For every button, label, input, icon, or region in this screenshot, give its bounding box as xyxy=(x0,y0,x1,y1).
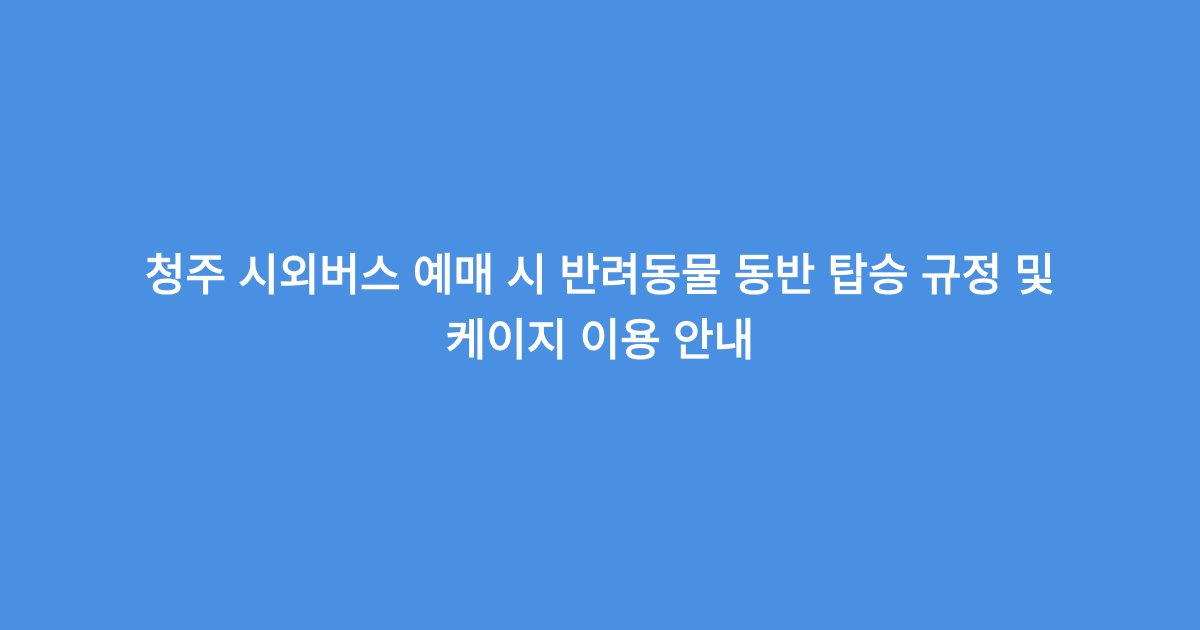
share-card: 청주 시외버스 예매 시 반려동물 동반 탑승 규정 및 케이지 이용 안내 xyxy=(0,0,1200,630)
card-content: 청주 시외버스 예매 시 반려동물 동반 탑승 규정 및 케이지 이용 안내 xyxy=(50,243,1150,373)
card-title: 청주 시외버스 예매 시 반려동물 동반 탑승 규정 및 케이지 이용 안내 xyxy=(50,243,1150,373)
